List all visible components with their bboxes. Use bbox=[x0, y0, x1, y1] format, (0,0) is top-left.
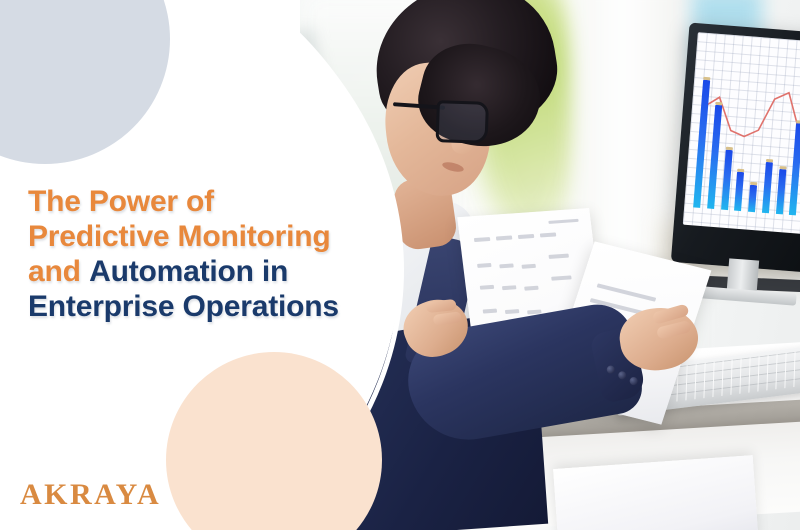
blog-banner: The Power of Predictive Monitoring andAu… bbox=[0, 0, 800, 530]
akraya-logo[interactable]: AKRAYA bbox=[20, 478, 161, 512]
headline-line-3-orange: and bbox=[28, 255, 81, 288]
cuff-button bbox=[617, 371, 626, 380]
cuff-button bbox=[629, 376, 638, 385]
paper-stack-foreground bbox=[553, 455, 759, 530]
headline-line-2: Predictive Monitoring bbox=[28, 219, 388, 254]
headline-line-1: The Power of bbox=[28, 184, 388, 219]
headline: The Power of Predictive Monitoring andAu… bbox=[28, 184, 388, 324]
cuff-button bbox=[606, 365, 615, 374]
headline-line-3: andAutomation in bbox=[28, 254, 388, 289]
eyeglasses bbox=[397, 93, 500, 146]
headline-line-3-navy: Automation in bbox=[89, 255, 288, 288]
eyeglasses-lens bbox=[436, 100, 489, 144]
headline-line-4: Enterprise Operations bbox=[28, 289, 388, 324]
